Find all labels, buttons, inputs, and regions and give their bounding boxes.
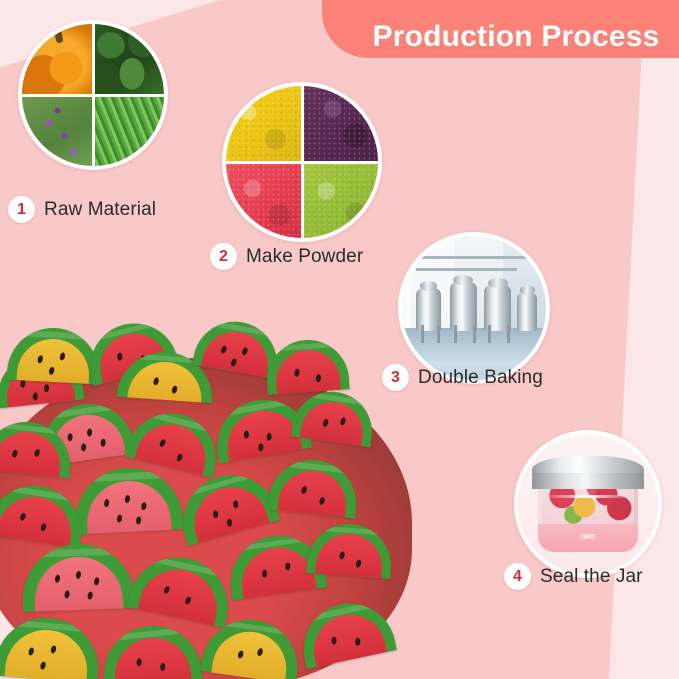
quadrant-divider-horizontal xyxy=(226,161,378,164)
factory-equipment-photo xyxy=(402,236,546,380)
raw-material-image-circle xyxy=(18,20,168,170)
factory-scene xyxy=(402,236,546,380)
storage-tank xyxy=(517,292,537,331)
infographic-canvas: Production Process xyxy=(0,0,679,679)
sealed-jar-photo: IMO xyxy=(518,434,658,574)
overhead-pipe xyxy=(416,268,517,271)
step-label: Make Powder xyxy=(246,246,363,268)
step-number-badge: 1 xyxy=(8,196,35,223)
step-number-badge: 3 xyxy=(382,364,409,391)
step-1-caption: 1 Raw Material xyxy=(8,196,156,223)
tank-leg xyxy=(507,325,510,342)
watermelon-treat-pile xyxy=(0,318,422,679)
purple-powder-quadrant xyxy=(302,86,378,162)
title-banner: Production Process xyxy=(322,0,679,58)
tank-leg xyxy=(488,325,491,342)
quadrant-divider-horizontal xyxy=(22,94,164,97)
watermelon-treat xyxy=(72,465,183,535)
red-powder-quadrant xyxy=(226,162,302,238)
tank-leg xyxy=(454,325,457,342)
powder-image-circle xyxy=(222,82,382,242)
step-4-caption: 4 Seal the Jar xyxy=(504,563,643,590)
jar-lid-band xyxy=(532,473,644,488)
green-powder-quadrant xyxy=(302,162,378,238)
overhead-pipe xyxy=(411,256,535,259)
powder-grain-texture xyxy=(226,86,302,162)
watermelon-treat xyxy=(21,542,135,612)
page-title: Production Process xyxy=(372,22,659,52)
powder-grain-texture xyxy=(226,162,302,238)
powder-grain-texture xyxy=(302,86,378,162)
step-2-caption: 2 Make Powder xyxy=(210,243,363,270)
powder-grain-texture xyxy=(302,162,378,238)
kale-quadrant xyxy=(93,24,164,95)
watermelon-treat xyxy=(264,337,349,395)
jar-label: IMO xyxy=(538,524,639,552)
vegetable-powder-photo xyxy=(226,86,378,238)
jar-image-circle: IMO xyxy=(514,430,662,578)
grass-quadrant xyxy=(93,95,164,166)
yellow-powder-quadrant xyxy=(226,86,302,162)
step-label: Double Baking xyxy=(418,367,543,389)
storage-tank xyxy=(484,285,511,331)
tank-leg xyxy=(437,325,440,342)
step-3-caption: 3 Double Baking xyxy=(382,364,543,391)
watermelon-treat xyxy=(7,326,102,385)
watermelon-treat xyxy=(306,521,393,579)
tank-leg xyxy=(473,325,476,342)
storage-tank xyxy=(450,282,477,331)
pumpkin-quadrant xyxy=(22,24,93,95)
jar-thread-ring xyxy=(548,495,629,498)
step-number-badge: 2 xyxy=(210,243,237,270)
jar-label-text: IMO xyxy=(581,534,596,541)
alfalfa-quadrant xyxy=(22,95,93,166)
step-label: Raw Material xyxy=(44,199,156,221)
step-label: Seal the Jar xyxy=(540,566,643,588)
raw-material-photo xyxy=(22,24,164,166)
step-number-badge: 4 xyxy=(504,563,531,590)
